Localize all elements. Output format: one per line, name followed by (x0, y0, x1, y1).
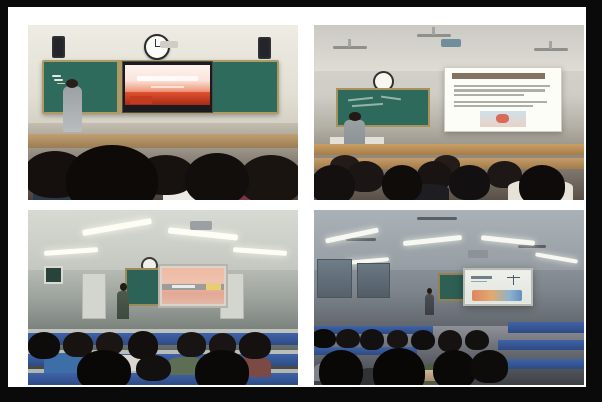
ceiling-fan-icon (534, 48, 568, 51)
student-head (314, 165, 355, 200)
slide-body-line (454, 85, 550, 87)
ceiling-projector-icon (468, 250, 488, 258)
slide-body-line (454, 89, 545, 91)
student-head (136, 355, 171, 381)
projector-mount-icon (160, 41, 178, 48)
audience-group (314, 277, 584, 386)
wall-frame (44, 266, 63, 284)
photo-grid (28, 25, 584, 385)
student-head (66, 145, 158, 200)
ceiling-fan-icon (346, 238, 376, 241)
student-head (449, 165, 490, 200)
student-head (28, 332, 60, 358)
student-head (438, 330, 462, 353)
ceiling-projector-icon (190, 221, 212, 230)
student-head (77, 350, 131, 385)
audience-group (314, 102, 584, 200)
ceiling-fan-icon (333, 46, 367, 49)
photo-bottom-right[interactable] (314, 210, 584, 385)
chalk-writing (348, 96, 373, 100)
student-head (465, 330, 489, 351)
ceiling (28, 210, 298, 270)
audience-group (28, 109, 298, 200)
slide-building-graphic (130, 96, 152, 104)
chalkboard-right-wing (211, 62, 278, 112)
photo-bottom-left[interactable] (28, 210, 298, 385)
chalk-writing (54, 79, 64, 81)
chalk-writing (52, 75, 62, 77)
student-head (519, 165, 565, 200)
student-head (387, 330, 409, 348)
slide-title-text (137, 76, 198, 81)
photo-top-left[interactable] (28, 25, 298, 200)
student-head (360, 329, 384, 351)
student-head (185, 153, 250, 200)
display-screen (122, 61, 212, 113)
student-head (411, 330, 435, 351)
chalk-writing (57, 83, 65, 84)
collage-white-matte (8, 7, 586, 387)
student-head (314, 329, 336, 349)
ceiling-fan-icon (417, 34, 451, 37)
photo-top-right[interactable] (314, 25, 584, 200)
student-head (177, 332, 207, 356)
student-head (382, 165, 423, 200)
student-head (319, 350, 362, 385)
student-head (433, 350, 476, 385)
wall-speaker-icon (258, 37, 271, 59)
ceiling-projector-icon (441, 39, 461, 47)
audience-group (28, 284, 298, 386)
ceiling-fan-icon (417, 217, 457, 220)
slide-body-line (454, 94, 524, 96)
student-head (373, 348, 424, 385)
collage-outer-frame (0, 0, 602, 402)
student-head (239, 332, 271, 358)
student-head (471, 350, 509, 383)
chalk-writing (381, 96, 401, 100)
slide-subtitle-text (151, 86, 185, 88)
slide-title-text (452, 73, 545, 79)
student-head (195, 350, 249, 385)
wall-speaker-icon (52, 36, 65, 58)
student-head (336, 329, 360, 349)
slide-content (125, 65, 209, 105)
